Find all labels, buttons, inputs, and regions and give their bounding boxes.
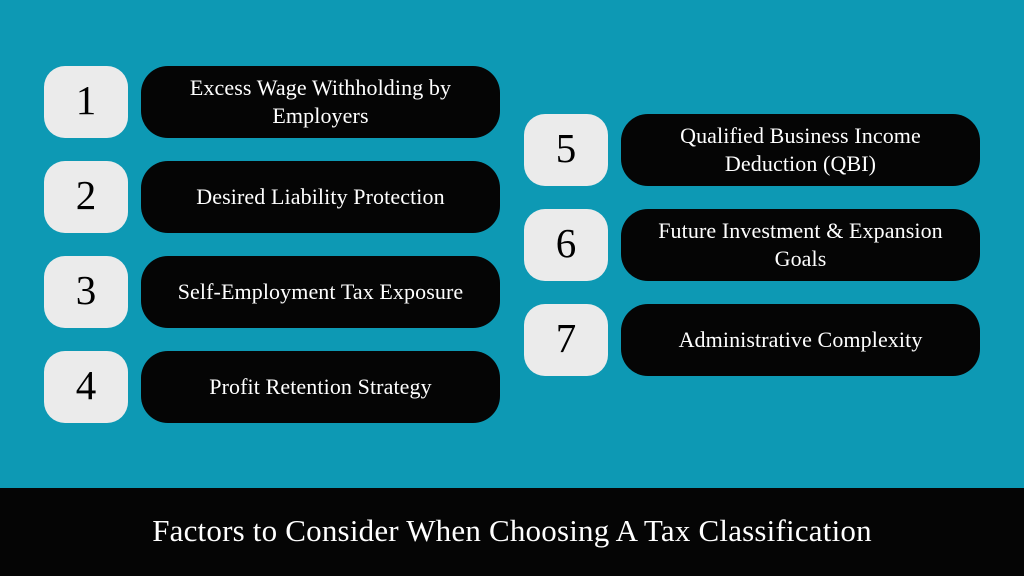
factor-label: Administrative Complexity bbox=[679, 326, 923, 354]
factor-number-badge: 3 bbox=[44, 256, 128, 328]
factors-column-left: 1 Excess Wage Withholding by Employers 2… bbox=[44, 66, 500, 423]
factor-pill: Desired Liability Protection bbox=[141, 161, 500, 233]
factor-item-7: 7 Administrative Complexity bbox=[524, 304, 980, 376]
factor-pill: Excess Wage Withholding by Employers bbox=[141, 66, 500, 138]
factor-number-badge: 2 bbox=[44, 161, 128, 233]
factor-number-badge: 5 bbox=[524, 114, 608, 186]
factor-number-badge: 7 bbox=[524, 304, 608, 376]
factor-label: Excess Wage Withholding by Employers bbox=[155, 74, 486, 130]
factor-item-6: 6 Future Investment & Expansion Goals bbox=[524, 209, 980, 281]
factor-item-4: 4 Profit Retention Strategy bbox=[44, 351, 500, 423]
factor-pill: Administrative Complexity bbox=[621, 304, 980, 376]
factor-label: Desired Liability Protection bbox=[196, 183, 444, 211]
infographic-canvas: 1 Excess Wage Withholding by Employers 2… bbox=[0, 0, 1024, 576]
factor-pill: Self-Employment Tax Exposure bbox=[141, 256, 500, 328]
page-title: Factors to Consider When Choosing A Tax … bbox=[152, 515, 872, 550]
factor-item-2: 2 Desired Liability Protection bbox=[44, 161, 500, 233]
factor-item-3: 3 Self-Employment Tax Exposure bbox=[44, 256, 500, 328]
factor-number-badge: 6 bbox=[524, 209, 608, 281]
factor-label: Qualified Business Income Deduction (QBI… bbox=[635, 122, 966, 178]
factor-number-badge: 1 bbox=[44, 66, 128, 138]
factor-label: Future Investment & Expansion Goals bbox=[635, 217, 966, 273]
factors-column-right: 5 Qualified Business Income Deduction (Q… bbox=[524, 114, 980, 376]
factor-pill: Future Investment & Expansion Goals bbox=[621, 209, 980, 281]
factor-item-5: 5 Qualified Business Income Deduction (Q… bbox=[524, 114, 980, 186]
factor-pill: Qualified Business Income Deduction (QBI… bbox=[621, 114, 980, 186]
factor-label: Profit Retention Strategy bbox=[209, 373, 431, 401]
factor-pill: Profit Retention Strategy bbox=[141, 351, 500, 423]
factor-label: Self-Employment Tax Exposure bbox=[178, 278, 464, 306]
factor-number-badge: 4 bbox=[44, 351, 128, 423]
factor-item-1: 1 Excess Wage Withholding by Employers bbox=[44, 66, 500, 138]
footer-title-bar: Factors to Consider When Choosing A Tax … bbox=[0, 488, 1024, 576]
